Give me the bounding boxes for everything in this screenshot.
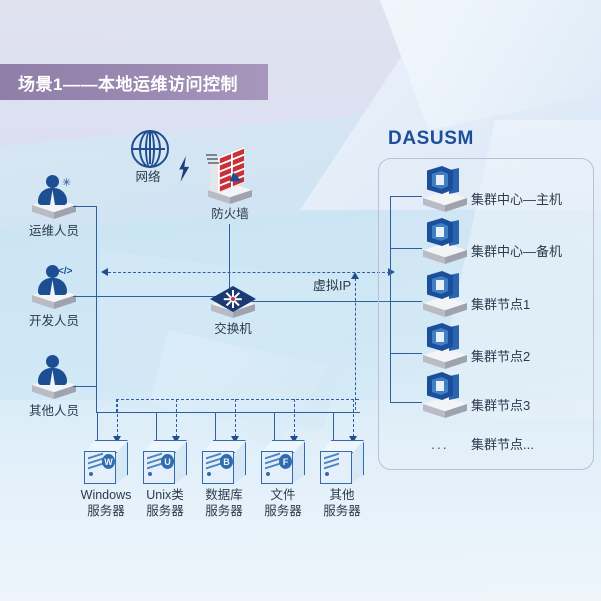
dasusm-title: DASUSM xyxy=(388,128,474,150)
server-drop-solid xyxy=(97,412,98,442)
server-glyph: B xyxy=(220,454,233,469)
server-drop-dashed xyxy=(294,399,295,437)
server-drop-solid xyxy=(215,412,216,442)
virtual-ip-line xyxy=(108,272,390,273)
gear-icon: ✳ xyxy=(62,176,71,189)
network-label: 网络 xyxy=(113,170,183,185)
cluster-node-label: 集群中心—备机 xyxy=(471,244,591,260)
scenario-title-banner: 场景1——本地运维访问控制 xyxy=(0,64,268,100)
cluster-server-icon xyxy=(427,218,461,248)
cluster-server-icon xyxy=(427,271,461,301)
cluster-server-icon xyxy=(427,372,461,402)
user-label-dev: 开发人员 xyxy=(19,314,89,329)
server-label-line1: Unix类 xyxy=(146,488,184,502)
unix-server-icon: U xyxy=(143,440,187,484)
file-server-icon: F xyxy=(261,440,305,484)
server-bus-solid xyxy=(96,412,360,413)
server-drop-dashed xyxy=(176,399,177,437)
server-drop-dashed xyxy=(235,399,236,437)
server-vip-riser-arrow xyxy=(351,272,359,279)
cluster-node-label: 集群中心—主机 xyxy=(471,192,591,208)
server-drop-dashed xyxy=(353,399,354,437)
diagram-canvas: 场景1——本地运维访问控制 网络 防火墙 ✳ 运维人员 </> 开发人员 xyxy=(0,0,601,601)
switch-dasusm-link xyxy=(252,301,390,302)
switch-icon xyxy=(210,286,256,312)
user-label-other: 其他人员 xyxy=(19,404,89,419)
user-link-ops xyxy=(73,206,97,207)
server-bus-dashed xyxy=(116,399,359,400)
server-glyph: W xyxy=(102,454,115,469)
server-drop-dashed xyxy=(117,399,118,437)
user-link-other xyxy=(73,386,97,387)
server-glyph: U xyxy=(161,454,174,469)
server-label-line1: Windows xyxy=(81,488,132,502)
server-label: 其他 服务器 xyxy=(302,488,382,519)
user-icon xyxy=(37,355,67,385)
code-icon: </> xyxy=(58,266,72,277)
database-server-icon: B xyxy=(202,440,246,484)
firewall-label: 防火墙 xyxy=(195,207,265,222)
scenario-title-text: 场景1——本地运维访问控制 xyxy=(0,70,238,95)
server-label-line2: 服务器 xyxy=(264,504,302,518)
windows-server-icon: W xyxy=(84,440,128,484)
firewall-brick-icon xyxy=(204,152,254,198)
server-vip-riser xyxy=(355,278,356,410)
server-label-line2: 服务器 xyxy=(87,504,125,518)
firewall-motion-lines xyxy=(206,154,218,166)
cluster-server-icon xyxy=(427,166,461,196)
server-label-line2: 服务器 xyxy=(146,504,184,518)
cluster-node-label: 集群节点... xyxy=(471,437,591,453)
user-link-dev xyxy=(73,296,97,297)
other-server-icon xyxy=(320,440,364,484)
virtual-ip-label: 虚拟IP xyxy=(297,278,367,294)
server-bus-riser xyxy=(96,386,97,413)
switch-label: 交换机 xyxy=(198,322,268,337)
user-label-ops: 运维人员 xyxy=(19,224,89,239)
server-drop-solid xyxy=(156,412,157,442)
cluster-server-icon xyxy=(427,323,461,353)
cluster-node-label: 集群节点1 xyxy=(471,297,591,313)
server-label-line1: 文件 xyxy=(270,488,295,502)
server-label-line2: 服务器 xyxy=(323,504,361,518)
dasusm-trunk xyxy=(390,196,391,402)
server-drop-solid xyxy=(274,412,275,442)
server-label-line1: 数据库 xyxy=(205,488,243,502)
server-label-line2: 服务器 xyxy=(205,504,243,518)
virtual-ip-arrow-left xyxy=(101,268,108,276)
cluster-node-label: 集群节点2 xyxy=(471,349,591,365)
cluster-node-label: 集群节点3 xyxy=(471,398,591,414)
globe-ellipse xyxy=(145,130,155,168)
server-label-line1: 其他 xyxy=(329,488,354,502)
server-drop-solid xyxy=(333,412,334,442)
globe-icon xyxy=(131,130,169,168)
cluster-node-ellipsis: ... xyxy=(431,436,449,452)
server-glyph: F xyxy=(279,454,292,469)
